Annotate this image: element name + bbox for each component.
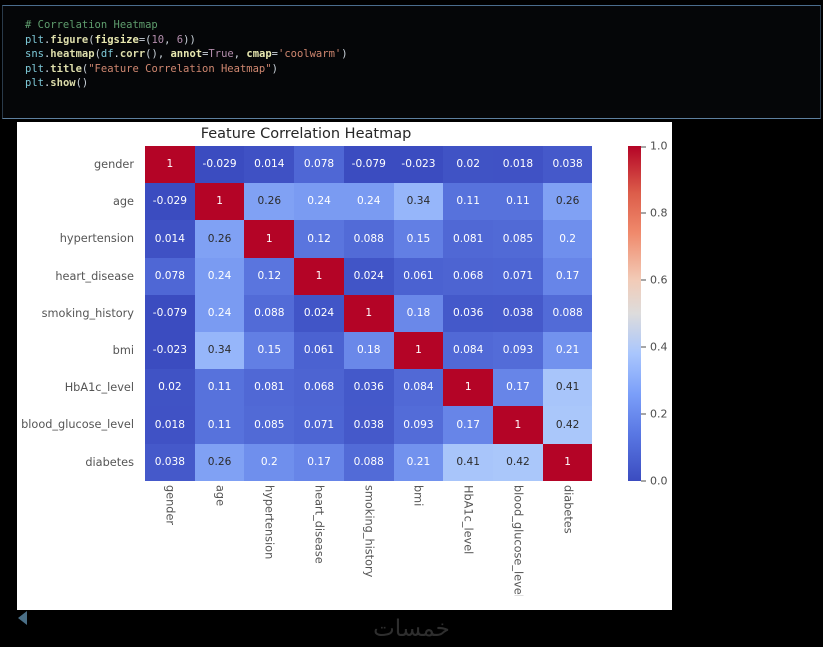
heatmap-cell: 0.12 — [244, 258, 294, 295]
code-token: , — [234, 48, 247, 60]
heatmap-cell: -0.079 — [145, 295, 195, 332]
heatmap-cell: 0.068 — [294, 369, 344, 406]
heatmap-cell: 0.17 — [294, 444, 344, 481]
tick-dash — [641, 481, 646, 482]
x-tick-label-wrap: age — [195, 482, 245, 602]
code-token: # Correlation Heatmap — [25, 19, 158, 31]
heatmap-cell: 0.078 — [294, 146, 344, 183]
x-tick-label-wrap: gender — [145, 482, 195, 602]
heatmap-cell: 0.11 — [195, 369, 245, 406]
code-token: figure — [50, 34, 88, 46]
code-token: df — [101, 48, 114, 60]
colorbar-tick: 0.2 — [641, 407, 668, 420]
code-block[interactable]: # Correlation Heatmapplt.figure(figsize=… — [2, 5, 821, 119]
code-token: True — [208, 48, 233, 60]
tick-dash — [641, 146, 646, 147]
heatmap-cell: 1 — [294, 258, 344, 295]
heatmap-cell: 0.11 — [195, 406, 245, 443]
code-content: # Correlation Heatmapplt.figure(figsize=… — [3, 6, 820, 91]
code-token: figsize — [95, 34, 139, 46]
heatmap-cell: 0.093 — [493, 332, 543, 369]
heatmap-cell: -0.079 — [344, 146, 394, 183]
heatmap-cell: 0.24 — [294, 183, 344, 220]
heatmap-cell: -0.029 — [145, 183, 195, 220]
code-token: "Feature Correlation Heatmap" — [88, 63, 271, 75]
code-token: show — [50, 77, 75, 89]
heatmap-cell: 0.024 — [344, 258, 394, 295]
x-tick-label: diabetes — [561, 485, 574, 534]
heatmap-cell: 0.085 — [244, 406, 294, 443]
y-axis-tick-labels: genderagehypertensionheart_diseasesmokin… — [17, 146, 141, 481]
heatmap-cell: 0.02 — [443, 146, 493, 183]
x-tick-label-wrap: smoking_history — [344, 482, 394, 602]
heatmap-cell: 0.41 — [543, 369, 593, 406]
heatmap-cell: 0.15 — [244, 332, 294, 369]
heatmap-cell: 0.12 — [294, 220, 344, 257]
heatmap-cell: 0.071 — [493, 258, 543, 295]
code-token: cmap — [246, 48, 271, 60]
heatmap-cell: 0.11 — [493, 183, 543, 220]
colorbar-tick: 1.0 — [641, 140, 668, 153]
y-tick-label: heart_disease — [17, 258, 141, 295]
code-token: annot — [170, 48, 202, 60]
code-token: ) — [341, 48, 347, 60]
heatmap-cell: 1 — [543, 444, 593, 481]
heatmap-cell: 0.081 — [244, 369, 294, 406]
heatmap-cell: 0.024 — [294, 295, 344, 332]
code-token: heatmap — [50, 48, 94, 60]
chart-title: Feature Correlation Heatmap — [17, 126, 595, 142]
code-token: plt — [25, 34, 44, 46]
x-tick-label-wrap: HbA1c_level — [443, 482, 493, 602]
x-tick-label: heart_disease — [313, 485, 326, 564]
x-tick-label: smoking_history — [362, 485, 375, 577]
tick-dash — [641, 347, 646, 348]
heatmap-cell: -0.029 — [195, 146, 245, 183]
y-tick-label: age — [17, 183, 141, 220]
code-line: # Correlation Heatmap — [25, 18, 820, 33]
code-token: corr — [120, 48, 145, 60]
heatmap-cell: 1 — [493, 406, 543, 443]
heatmap-cell: 0.17 — [493, 369, 543, 406]
heatmap-cell: 0.068 — [443, 258, 493, 295]
heatmap-cell: 0.02 — [145, 369, 195, 406]
heatmap-cell: 0.036 — [443, 295, 493, 332]
heatmap-cell: 0.084 — [443, 332, 493, 369]
code-token: plt — [25, 77, 44, 89]
screen-root: # Correlation Heatmapplt.figure(figsize=… — [0, 0, 823, 647]
heatmap-cell: 0.42 — [493, 444, 543, 481]
heatmap-cell: 1 — [244, 220, 294, 257]
x-tick-label: age — [213, 485, 226, 506]
code-token: () — [76, 77, 89, 89]
heatmap-cell: 0.018 — [145, 406, 195, 443]
heatmap-cell: 0.42 — [543, 406, 593, 443]
heatmap-cell: 1 — [344, 295, 394, 332]
colorbar-tick-labels: 0.00.20.40.60.81.0 — [641, 146, 681, 481]
x-tick-label: bmi — [412, 485, 425, 506]
colorbar-tick: 0.4 — [641, 340, 668, 353]
heatmap-cell: -0.023 — [145, 332, 195, 369]
colorbar-tick-text: 0.6 — [650, 273, 668, 286]
code-token: () — [145, 48, 158, 60]
heatmap-cell: 0.11 — [443, 183, 493, 220]
y-tick-label: gender — [17, 146, 141, 183]
heatmap-cell: 0.018 — [493, 146, 543, 183]
y-tick-label: hypertension — [17, 220, 141, 257]
heatmap-cell: 0.061 — [394, 258, 444, 295]
heatmap-cell: 0.088 — [543, 295, 593, 332]
code-line: sns.heatmap(df.corr(), annot=True, cmap=… — [25, 47, 820, 62]
heatmap-cell: 0.18 — [394, 295, 444, 332]
heatmap-cell: 0.2 — [244, 444, 294, 481]
heatmap-cell: 0.2 — [543, 220, 593, 257]
heatmap-cell: 0.34 — [394, 183, 444, 220]
colorbar-tick-text: 1.0 — [650, 140, 668, 153]
y-tick-label: HbA1c_level — [17, 369, 141, 406]
colorbar-tick-text: 0.4 — [650, 340, 668, 353]
heatmap-cell: 0.038 — [493, 295, 543, 332]
heatmap-cell: 0.078 — [145, 258, 195, 295]
heatmap-cell: 0.014 — [244, 146, 294, 183]
heatmap-cell: 0.093 — [394, 406, 444, 443]
x-tick-label-wrap: heart_disease — [294, 482, 344, 602]
y-tick-label: smoking_history — [17, 295, 141, 332]
x-tick-label-wrap: blood_glucose_level — [493, 482, 543, 602]
code-token: )) — [183, 34, 196, 46]
code-token: 10 — [151, 34, 164, 46]
colorbar-tick: 0.8 — [641, 206, 668, 219]
heatmap-cell: 0.085 — [493, 220, 543, 257]
code-token: plt — [25, 63, 44, 75]
y-tick-label: bmi — [17, 332, 141, 369]
colorbar-tick: 0.6 — [641, 273, 668, 286]
heatmap-cell: 0.26 — [195, 444, 245, 481]
heatmap-cell: 0.17 — [443, 406, 493, 443]
code-token: , — [158, 48, 171, 60]
heatmap-cell: 0.088 — [244, 295, 294, 332]
x-tick-label: HbA1c_level — [462, 485, 475, 554]
heatmap-cell: 0.41 — [443, 444, 493, 481]
heatmap-cell: 0.24 — [195, 258, 245, 295]
heatmap-cell: 0.081 — [443, 220, 493, 257]
heatmap-cell: 1 — [145, 146, 195, 183]
x-tick-label-wrap: bmi — [394, 482, 444, 602]
heatmap-cell: 0.15 — [394, 220, 444, 257]
heatmap-cell: 1 — [443, 369, 493, 406]
x-axis-tick-labels: genderagehypertensionheart_diseasesmokin… — [145, 482, 593, 602]
code-token: title — [50, 63, 82, 75]
heatmap-cell: 0.26 — [195, 220, 245, 257]
colorbar-tick: 0.0 — [641, 474, 668, 487]
watermark-text: خمسات — [0, 610, 823, 647]
x-tick-label: blood_glucose_level — [511, 485, 524, 598]
matplotlib-figure: Feature Correlation Heatmap genderagehyp… — [17, 122, 672, 610]
x-tick-label-wrap: hypertension — [244, 482, 294, 602]
heatmap-cell: 0.17 — [543, 258, 593, 295]
heatmap-cell: 0.24 — [344, 183, 394, 220]
heatmap-cell: 0.088 — [344, 220, 394, 257]
heatmap-cell: 1 — [195, 183, 245, 220]
colorbar-tick-text: 0.0 — [650, 474, 668, 487]
y-tick-label: blood_glucose_level — [17, 406, 141, 443]
heatmap-cell: 0.038 — [344, 406, 394, 443]
y-tick-label: diabetes — [17, 444, 141, 481]
heatmap-cell: 0.061 — [294, 332, 344, 369]
heatmap-cell: 0.014 — [145, 220, 195, 257]
heatmap-cell: 0.21 — [543, 332, 593, 369]
colorbar-tick-text: 0.8 — [650, 206, 668, 219]
code-line: plt.title("Feature Correlation Heatmap") — [25, 62, 820, 77]
heatmap-cell: 1 — [394, 332, 444, 369]
code-line: plt.show() — [25, 76, 820, 91]
heatmap-cell: 0.24 — [195, 295, 245, 332]
heatmap-cell: 0.071 — [294, 406, 344, 443]
code-token: , — [164, 34, 177, 46]
figure-bottom-margin — [17, 596, 672, 610]
heatmap-cell: 0.18 — [344, 332, 394, 369]
heatmap-cell: 0.21 — [394, 444, 444, 481]
code-token: ) — [272, 63, 278, 75]
heatmap-cell: 0.26 — [543, 183, 593, 220]
heatmap-cell: 0.036 — [344, 369, 394, 406]
heatmap-cell: 0.038 — [145, 444, 195, 481]
heatmap-cell: 0.084 — [394, 369, 444, 406]
code-token: 'coolwarm' — [278, 48, 341, 60]
x-tick-label: hypertension — [263, 485, 276, 559]
heatmap-cell: 0.34 — [195, 332, 245, 369]
x-tick-label: gender — [163, 485, 176, 525]
code-line: plt.figure(figsize=(10, 6)) — [25, 33, 820, 48]
x-tick-label-wrap: diabetes — [543, 482, 593, 602]
code-token: sns — [25, 48, 44, 60]
heatmap-cell: 0.038 — [543, 146, 593, 183]
heatmap-cell: 0.088 — [344, 444, 394, 481]
heatmap-cell: -0.023 — [394, 146, 444, 183]
tick-dash — [641, 414, 646, 415]
tick-dash — [641, 280, 646, 281]
heatmap-grid: 1-0.0290.0140.078-0.079-0.0230.020.0180.… — [145, 146, 593, 481]
colorbar-tick-text: 0.2 — [650, 407, 668, 420]
colorbar-gradient — [628, 146, 641, 481]
heatmap-cell: 0.26 — [244, 183, 294, 220]
tick-dash — [641, 213, 646, 214]
